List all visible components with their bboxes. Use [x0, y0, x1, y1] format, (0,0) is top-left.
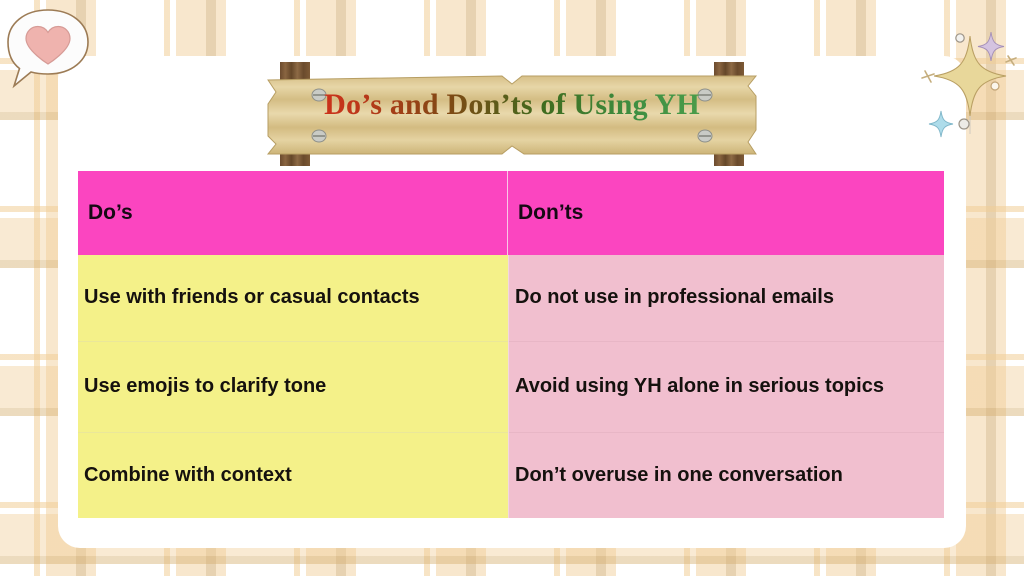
- speech-bubble-heart-icon: [2, 4, 94, 104]
- table-row: Do not use in professional emails: [509, 255, 944, 342]
- table-row: Use emojis to clarify tone: [78, 342, 508, 433]
- donts-column: Do not use in professional emails Avoid …: [508, 255, 944, 518]
- sparkles-decoration: [898, 0, 1024, 142]
- table-row: Don’t overuse in one conversation: [509, 433, 944, 518]
- table-row: Avoid using YH alone in serious topics: [509, 342, 944, 433]
- column-header-dos: Do’s: [78, 171, 508, 255]
- table-header-row: Do’s Don’ts: [78, 171, 944, 255]
- page-title: Do’s and Don’ts of Using YH: [262, 88, 762, 122]
- table-row: Combine with context: [78, 433, 508, 518]
- dos-column: Use with friends or casual contacts Use …: [78, 255, 508, 518]
- dos-and-donts-table: Do’s Don’ts Use with friends or casual c…: [78, 171, 944, 518]
- table-row: Use with friends or casual contacts: [78, 255, 508, 342]
- column-header-donts: Don’ts: [508, 171, 944, 255]
- table-body: Use with friends or casual contacts Use …: [78, 255, 944, 518]
